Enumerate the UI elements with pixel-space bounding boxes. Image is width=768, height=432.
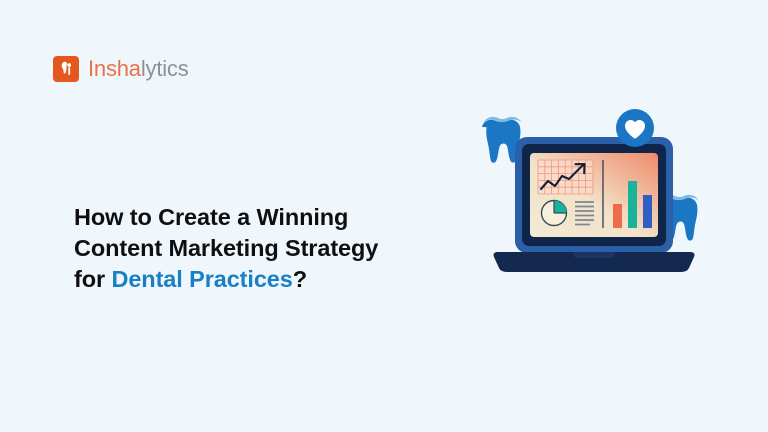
line-chart-widget — [538, 160, 593, 194]
headline-line-2: Content Marketing Strategy — [74, 235, 378, 261]
hero-banner: Inshalytics How to Create a Winning Cont… — [0, 0, 768, 432]
brand-name: Inshalytics — [88, 58, 189, 80]
headline-line-3-suffix: ? — [293, 266, 307, 292]
headline-line-3-prefix: for — [74, 266, 111, 292]
heart-badge-icon — [616, 109, 654, 147]
inshalytics-tooth-logo-icon — [53, 56, 79, 82]
page-title: How to Create a Winning Content Marketin… — [74, 202, 454, 296]
brand-name-part-2: lytics — [141, 56, 189, 81]
pie-chart-widget — [542, 201, 567, 226]
laptop-base — [494, 252, 695, 272]
headline-accent: Dental Practices — [111, 266, 292, 292]
headline-line-1: How to Create a Winning — [74, 204, 348, 230]
dental-analytics-dashboard-illustration — [470, 100, 715, 290]
brand-name-part-1: Insha — [88, 56, 141, 81]
brand-logo[interactable]: Inshalytics — [53, 56, 189, 82]
